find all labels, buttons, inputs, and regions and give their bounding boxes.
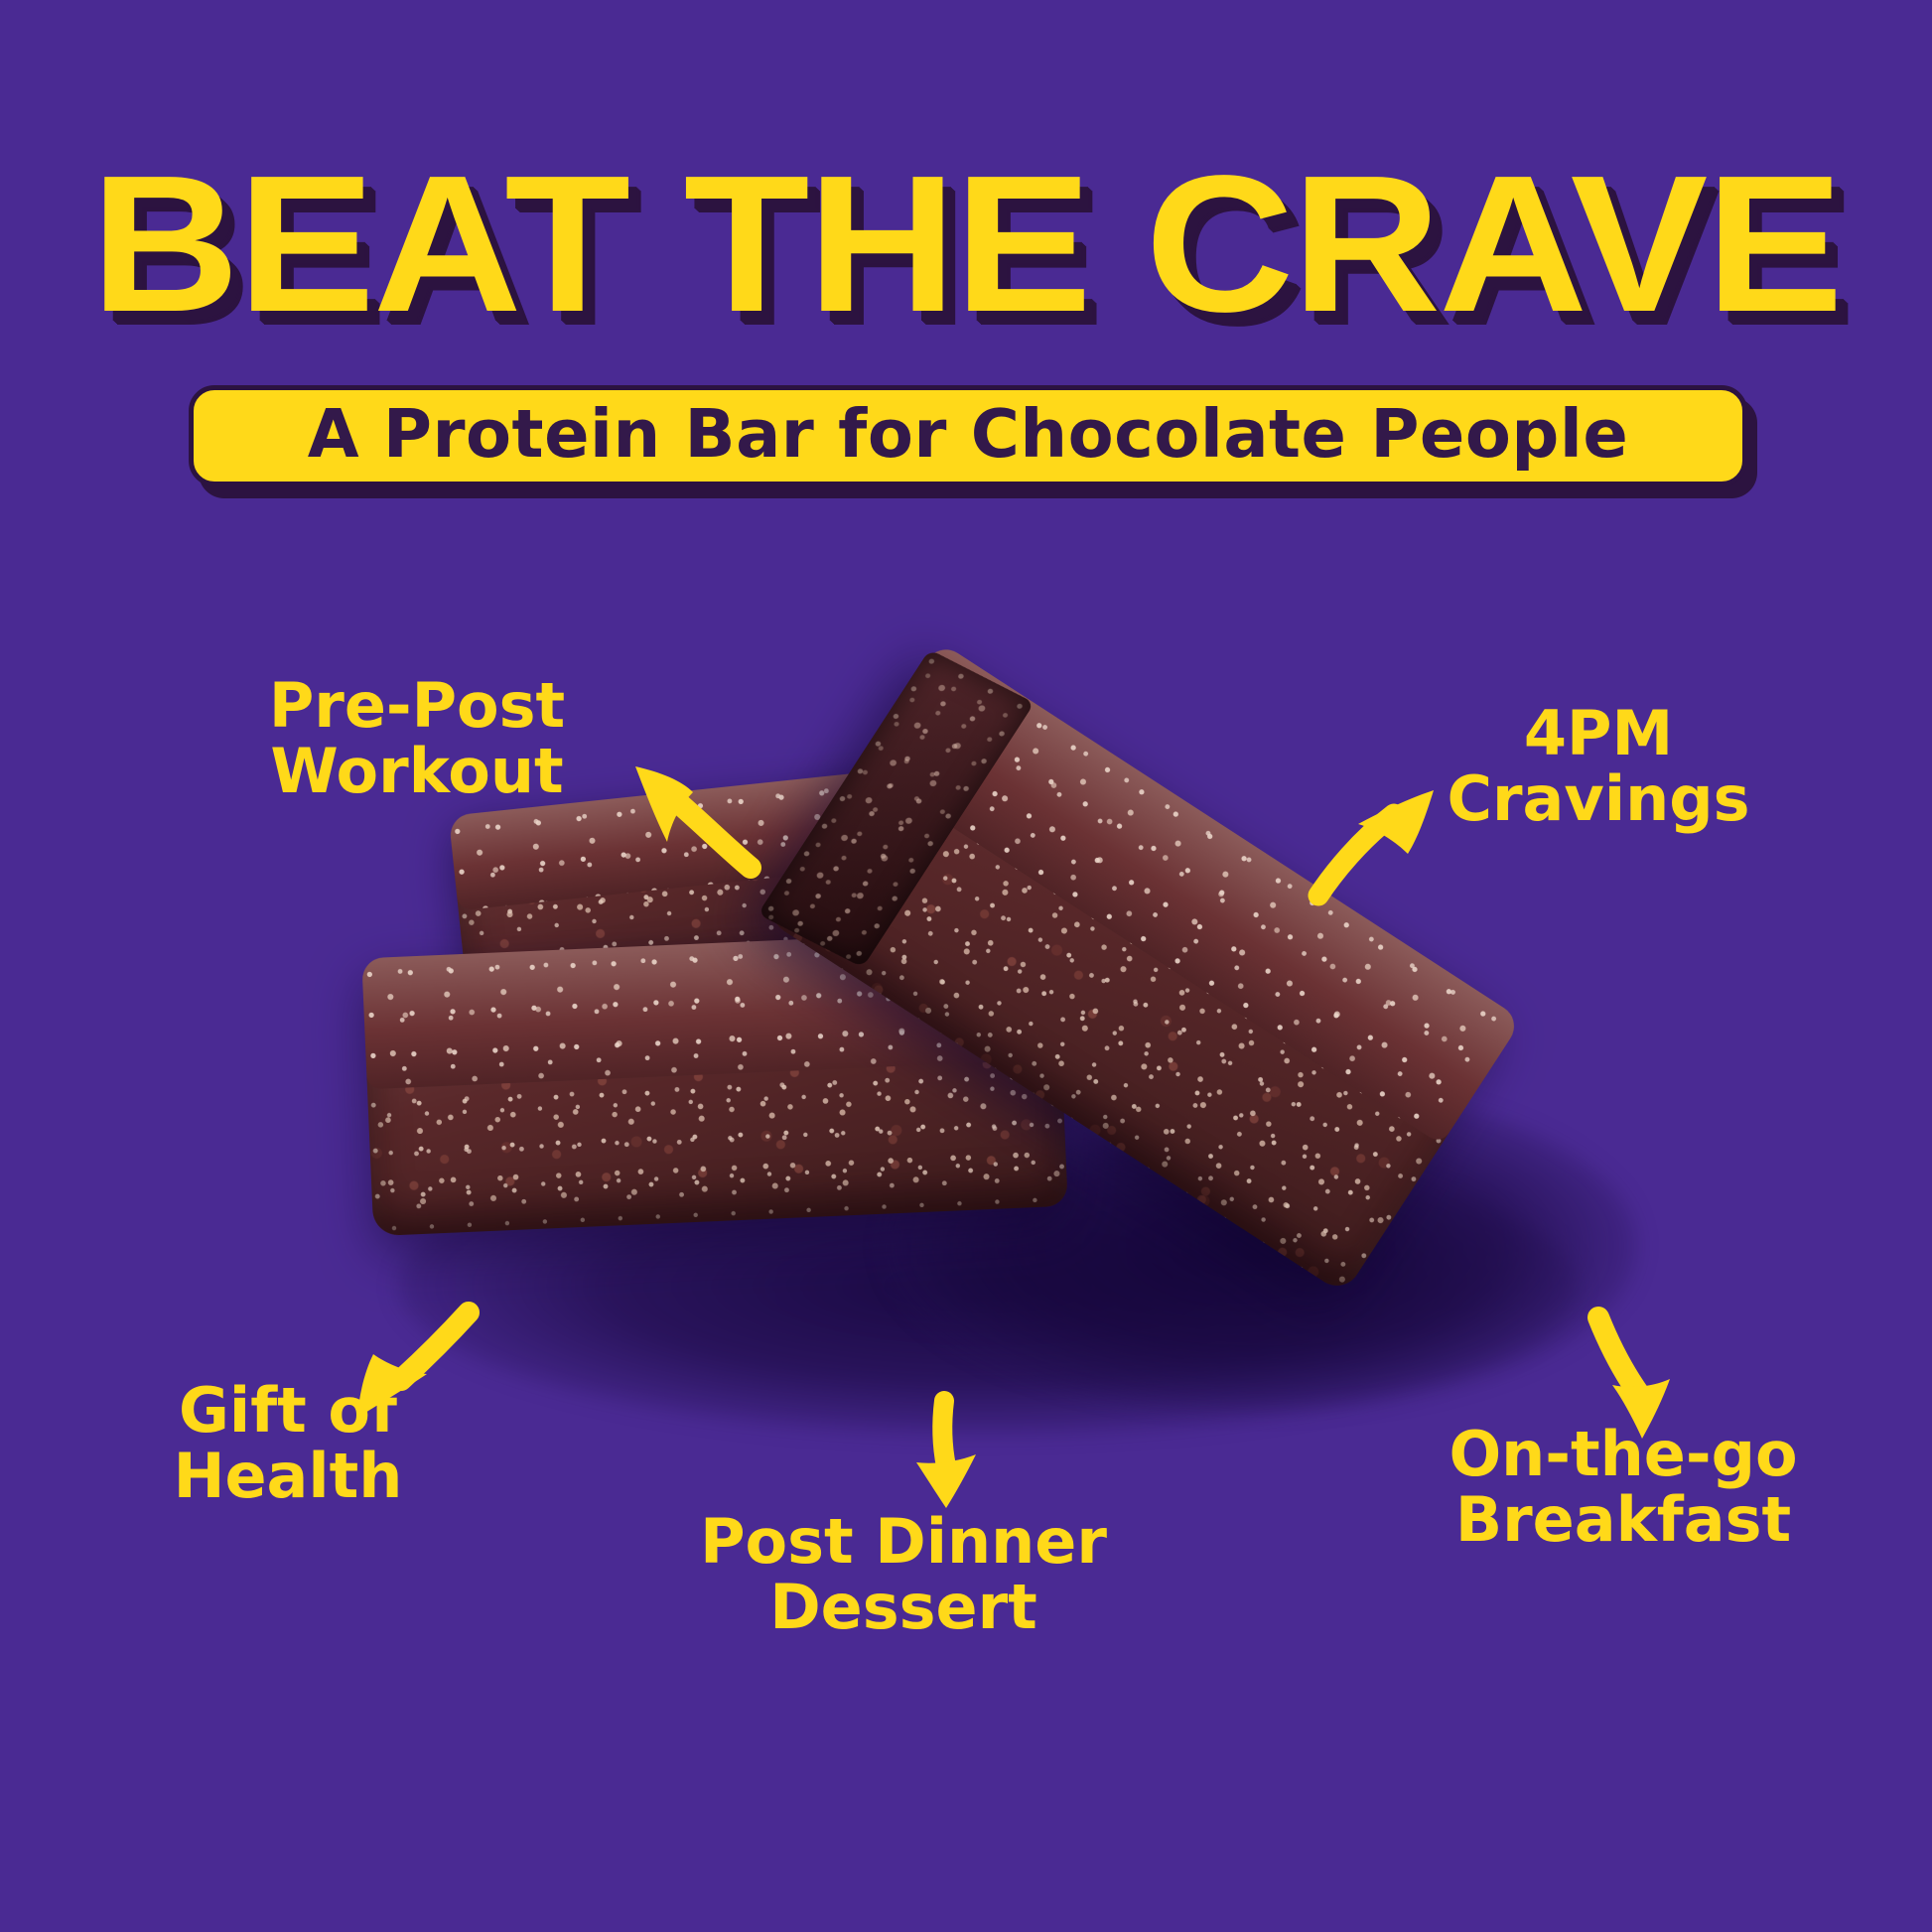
callout-on-the-go-breakfast-line2: Breakfast <box>1400 1487 1847 1553</box>
callout-pre-post-workout-line1: Pre-Post <box>204 673 630 739</box>
callout-4pm-cravings-line2: Cravings <box>1390 766 1807 832</box>
callout-gift-of-health-line2: Health <box>119 1444 457 1509</box>
callout-4pm-cravings: 4PM Cravings <box>1390 701 1807 831</box>
subtitle-banner: A Protein Bar for Chocolate People <box>189 385 1747 486</box>
callout-4pm-cravings-line1: 4PM <box>1390 701 1807 766</box>
callout-pre-post-workout-line2: Workout <box>204 739 630 804</box>
arrow-up-right-icon <box>1309 784 1448 903</box>
callout-post-dinner-dessert-line2: Dessert <box>675 1575 1132 1640</box>
subtitle-banner-pill: A Protein Bar for Chocolate People <box>189 385 1747 486</box>
callout-pre-post-workout: Pre-Post Workout <box>204 673 630 803</box>
arrow-down-left-icon <box>349 1301 479 1430</box>
callout-post-dinner-dessert: Post Dinner Dessert <box>675 1509 1132 1639</box>
arrow-up-left-icon <box>616 757 764 876</box>
arrow-down-icon <box>908 1395 988 1514</box>
callout-post-dinner-dessert-line1: Post Dinner <box>675 1509 1132 1575</box>
arrow-down-right-icon <box>1581 1306 1700 1445</box>
subtitle-text: A Protein Bar for Chocolate People <box>308 401 1629 468</box>
poster-canvas: BEAT THE CRAVE A Protein Bar for Chocola… <box>0 0 1932 1932</box>
page-title: BEAT THE CRAVE <box>0 147 1932 342</box>
